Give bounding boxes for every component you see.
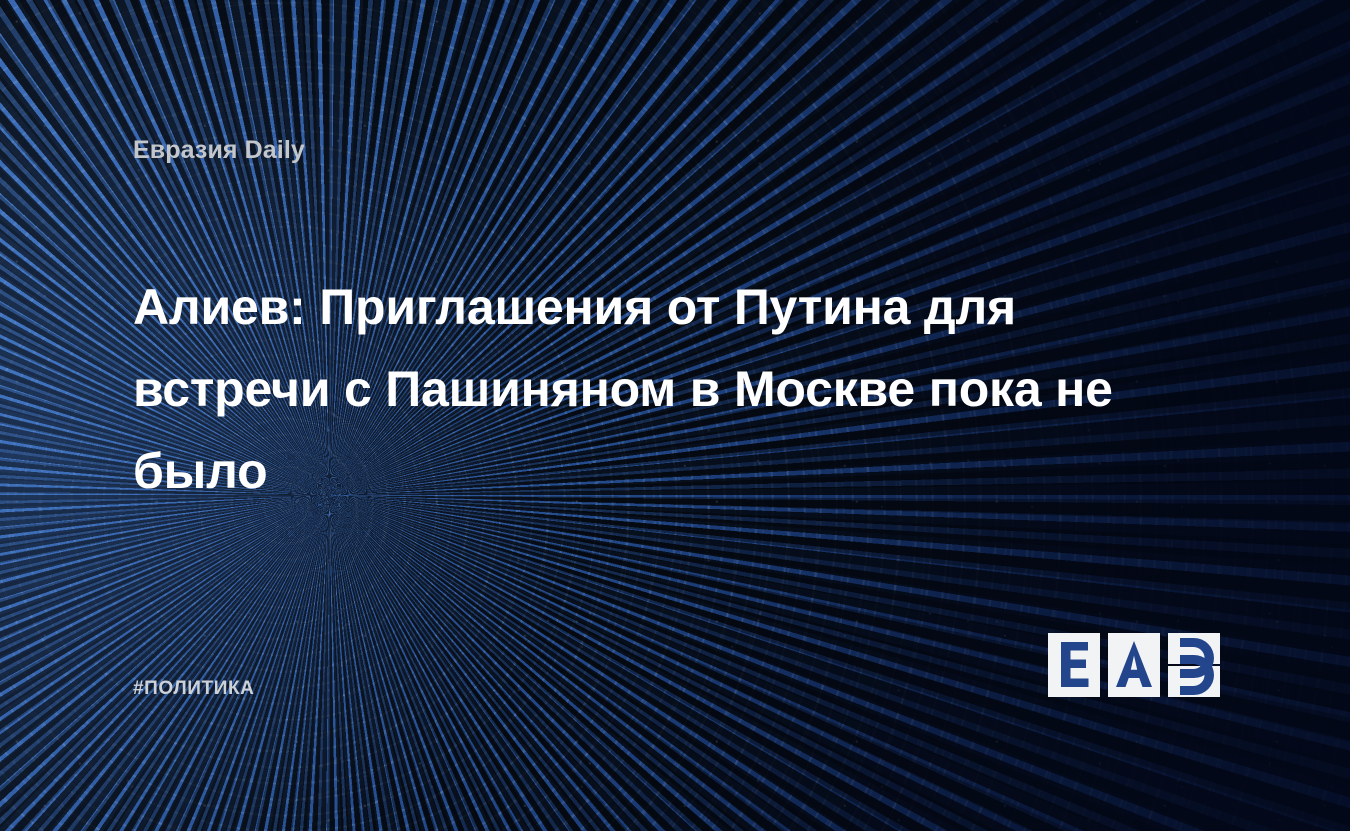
news-share-card: Евразия Daily Алиев: Приглашения от Пути… [0, 0, 1350, 831]
brand-name: Евразия Daily [133, 136, 305, 165]
card-content: Евразия Daily Алиев: Приглашения от Пути… [0, 0, 1350, 831]
logo-tile-d [1168, 633, 1220, 697]
eadaily-logo [1048, 633, 1220, 697]
category-tag: #ПОЛИТИКА [133, 678, 255, 700]
logo-tile-e [1048, 633, 1100, 697]
page-title: Алиев: Приглашения от Путина для встречи… [133, 266, 1143, 512]
logo-tile-a [1108, 633, 1160, 697]
